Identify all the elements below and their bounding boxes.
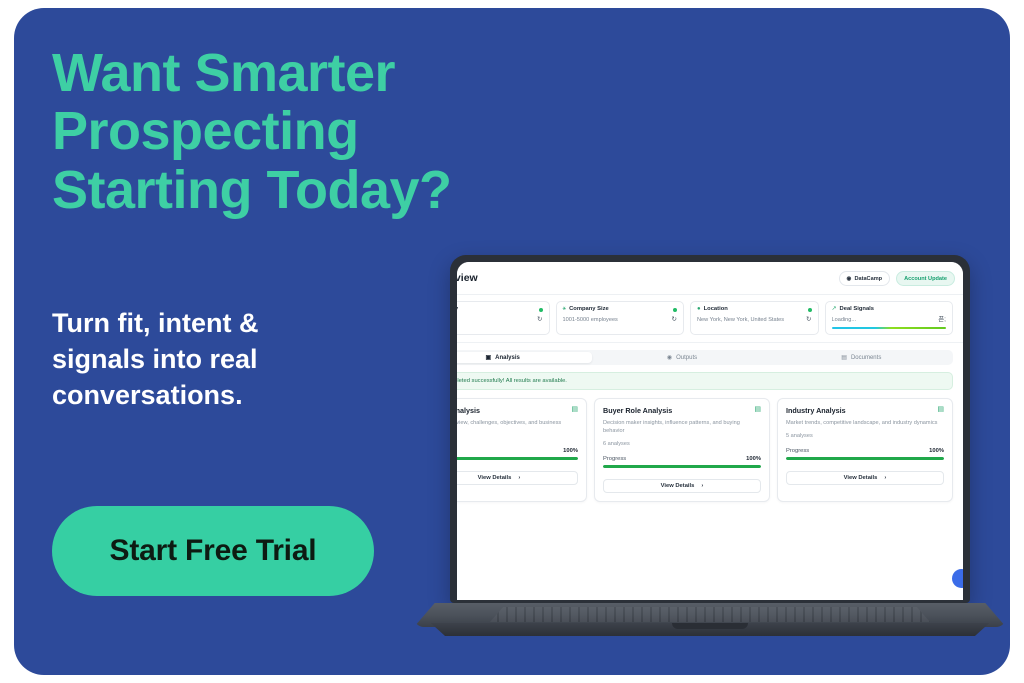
- card-progress-label-industry: Progress: [786, 448, 809, 454]
- start-free-trial-button[interactable]: Start Free Trial: [52, 506, 374, 596]
- refresh-icon[interactable]: ↻: [537, 317, 542, 324]
- chat-bubble-icon[interactable]: [952, 569, 963, 588]
- refresh-icon[interactable]: ↻: [672, 317, 677, 324]
- filter-label-industry: Industry: [457, 306, 458, 312]
- refresh-icon[interactable]: ↻: [806, 317, 811, 324]
- promo-headline: Want Smarter Prospecting Starting Today?: [52, 44, 482, 219]
- view-details-button-industry[interactable]: View Details ›: [786, 471, 944, 485]
- pin-icon: ●: [697, 306, 701, 312]
- filter-value-deal-signals: Loading...: [832, 317, 857, 323]
- tab-outputs-label: Outputs: [676, 355, 697, 361]
- document-icon: ▤: [841, 354, 847, 361]
- card-progress-bar-buyer-role: [603, 465, 761, 468]
- target-icon: ◉: [667, 354, 672, 361]
- view-details-button-account[interactable]: View Details ›: [457, 471, 578, 485]
- app-window: Overview ◉ DataCamp Account Update: [457, 262, 963, 600]
- briefcase-icon: ▤: [754, 406, 761, 413]
- view-details-label: View Details: [661, 483, 695, 489]
- card-progress-bar-account: [457, 457, 578, 460]
- status-dot-industry: [539, 308, 543, 312]
- filter-row: ⛶ Industry Marketing ↻ ⚹ Company Size: [457, 295, 963, 343]
- card-progress-pct-industry: 100%: [929, 448, 944, 454]
- card-description-account: Company overview, challenges, objectives…: [457, 419, 578, 427]
- analysis-cards-row: Account Analysis ▤ Company overview, cha…: [457, 398, 953, 502]
- card-progress-label-buyer-role: Progress: [603, 456, 626, 462]
- promo-subheadline: Turn fit, intent & signals into real con…: [52, 306, 362, 414]
- promo-card: Want Smarter Prospecting Starting Today?…: [14, 8, 1010, 675]
- view-details-button-buyer-role[interactable]: View Details ›: [603, 479, 761, 493]
- card-title-buyer-role: Buyer Role Analysis: [603, 406, 672, 415]
- filter-label-deal-signals: Deal Signals: [840, 306, 874, 312]
- status-dot-company-size: [673, 308, 677, 312]
- chart-bar-icon: ▤: [937, 406, 944, 413]
- tab-analysis-label: Analysis: [495, 355, 520, 361]
- laptop-screen: Overview ◉ DataCamp Account Update: [457, 262, 963, 600]
- filter-value-location: New York, New York, United States: [697, 317, 784, 323]
- filter-card-company-size[interactable]: ⚹ Company Size 1001-5000 employees ↻: [556, 301, 685, 335]
- tab-analysis[interactable]: ▣ Analysis: [457, 352, 592, 363]
- card-description-buyer-role: Decision maker insights, influence patte…: [603, 419, 761, 435]
- account-update-label: Account Update: [904, 276, 947, 282]
- success-banner: Analysis completed successfully! All res…: [457, 372, 953, 390]
- filter-label-company-size: Company Size: [569, 306, 609, 312]
- card-count-account: 7 analyses: [457, 433, 578, 439]
- view-details-label: View Details: [844, 475, 878, 481]
- filter-label-location: Location: [704, 306, 728, 312]
- card-progress-bar-industry: [786, 457, 944, 460]
- view-details-label: View Details: [478, 475, 512, 481]
- filter-value-company-size: 1001-5000 employees: [563, 317, 618, 323]
- card-count-industry: 5 analyses: [786, 433, 944, 439]
- promo-copy-column: Want Smarter Prospecting Starting Today?…: [52, 44, 472, 219]
- filter-card-location[interactable]: ● Location New York, New York, United St…: [690, 301, 819, 335]
- deal-signals-loading-bar: [832, 327, 947, 330]
- tab-documents[interactable]: ▤ Documents: [772, 352, 951, 363]
- analysis-card-industry[interactable]: Industry Analysis ▤ Market trends, compe…: [777, 398, 953, 502]
- globe-icon: ◉: [847, 276, 852, 282]
- trend-up-icon: ↗: [832, 306, 837, 312]
- laptop-mockup: Overview ◉ DataCamp Account Update: [410, 240, 1010, 640]
- card-progress-pct-buyer-role: 100%: [746, 456, 761, 462]
- chevron-right-icon: ›: [884, 475, 886, 481]
- card-count-buyer-role: 6 analyses: [603, 441, 761, 447]
- card-description-industry: Market trends, competitive landscape, an…: [786, 419, 944, 427]
- datacamp-label: DataCamp: [854, 276, 882, 282]
- page-title: Overview: [457, 272, 478, 284]
- card-title-account: Account Analysis: [457, 406, 480, 415]
- tab-outputs[interactable]: ◉ Outputs: [592, 352, 771, 363]
- tab-bar: ▣ Analysis ◉ Outputs ▤ Documents: [457, 350, 953, 365]
- header-actions: ◉ DataCamp Account Update: [839, 271, 955, 286]
- app-header: Overview ◉ DataCamp Account Update: [457, 262, 963, 295]
- card-title-industry: Industry Analysis: [786, 406, 846, 415]
- filter-card-industry[interactable]: ⛶ Industry Marketing ↻: [457, 301, 550, 335]
- filter-card-deal-signals[interactable]: ↗ Deal Signals Loading... 픈;: [825, 301, 954, 335]
- laptop-notch: [672, 623, 748, 629]
- chevron-right-icon: ›: [701, 483, 703, 489]
- analysis-card-account[interactable]: Account Analysis ▤ Company overview, cha…: [457, 398, 587, 502]
- clipboard-icon: ▣: [485, 354, 491, 361]
- external-link-icon[interactable]: 픈;: [938, 317, 946, 324]
- chevron-right-icon: ›: [518, 475, 520, 481]
- card-progress-pct-account: 100%: [563, 448, 578, 454]
- analysis-card-buyer-role[interactable]: Buyer Role Analysis ▤ Decision maker ins…: [594, 398, 770, 502]
- account-update-badge[interactable]: Account Update: [896, 271, 955, 286]
- datacamp-badge[interactable]: ◉ DataCamp: [839, 271, 891, 286]
- status-dot-location: [808, 308, 812, 312]
- chart-bar-icon: ▤: [571, 406, 578, 413]
- laptop-keyboard: [490, 607, 930, 622]
- people-icon: ⚹: [563, 306, 567, 312]
- tab-documents-label: Documents: [851, 355, 881, 361]
